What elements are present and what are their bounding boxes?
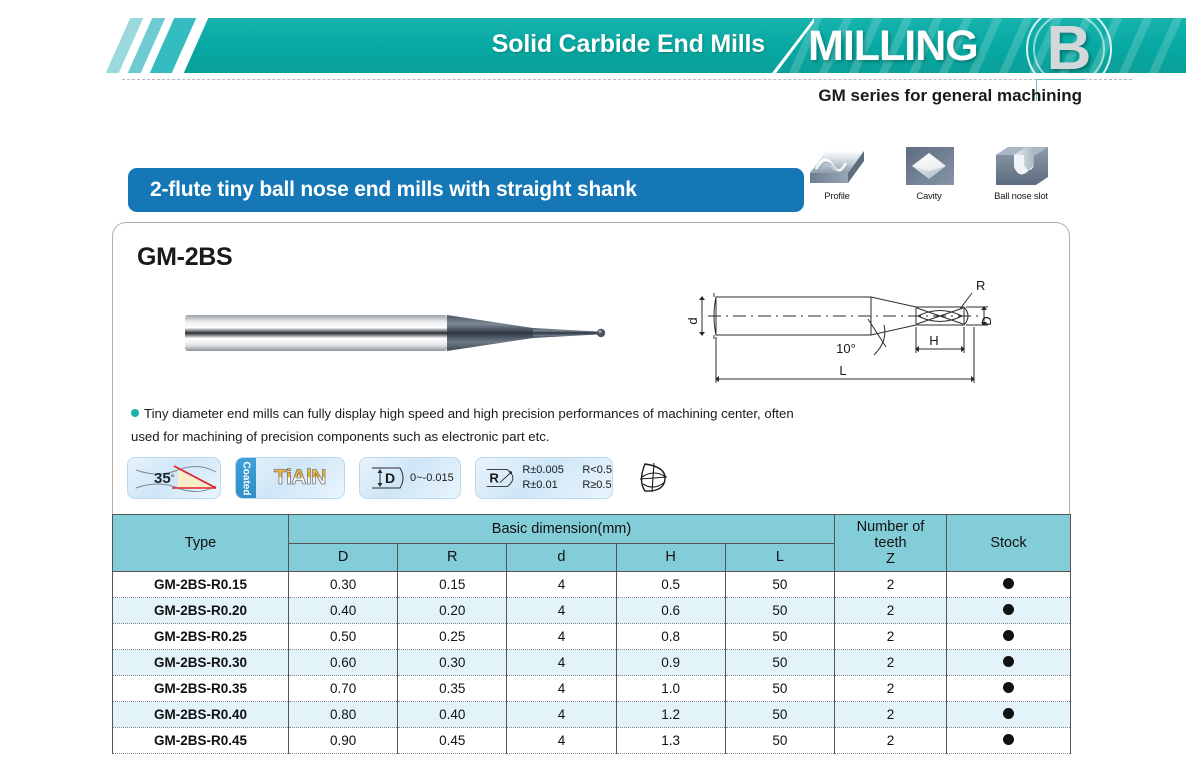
th-teeth-line3: Z [835, 551, 946, 567]
cell-overall-length: 50 [725, 572, 834, 598]
badge-coating: Coated TiAlN [235, 457, 345, 499]
cell-diameter: 0.50 [289, 624, 398, 650]
cell-teeth: 2 [835, 702, 947, 728]
th-type: Type [113, 515, 289, 572]
cell-type: GM-2BS-R0.30 [113, 650, 289, 676]
coating-prefix-strip: Coated [236, 458, 256, 498]
cell-flute-length: 1.3 [616, 728, 725, 754]
badge-d-tolerance: D 0~-0.015 [359, 457, 461, 499]
d-tolerance-label: D [385, 470, 395, 486]
description-text: Tiny diameter end mills can fully displa… [131, 406, 794, 444]
th-number-of-teeth: Number of teeth Z [835, 515, 947, 572]
table-row[interactable]: GM-2BS-R0.400.800.4041.2502 [113, 702, 1071, 728]
cell-diameter: 0.40 [289, 598, 398, 624]
th-stock: Stock [947, 515, 1071, 572]
header-subtitle: GM series for general machining [0, 86, 1082, 106]
application-icons: Profile Cavity [806, 143, 1052, 202]
table-header-row-1: Type Basic dimension(mm) Number of teeth… [113, 515, 1071, 544]
header-title: Solid Carbide End Mills [390, 30, 765, 59]
product-card: GM-2BS [112, 222, 1070, 514]
cell-overall-length: 50 [725, 728, 834, 754]
cell-flute-length: 1.2 [616, 702, 725, 728]
cell-overall-length: 50 [725, 624, 834, 650]
badge-helix-angle: 35 ° [127, 457, 221, 499]
r-tolerance-row: R±0.01 R≥0.5 [522, 478, 612, 493]
cell-shank-diameter: 4 [507, 572, 616, 598]
application-ball-nose-slot: Ball nose slot [990, 143, 1052, 202]
table-row[interactable]: GM-2BS-R0.250.500.2540.8502 [113, 624, 1071, 650]
cell-radius: 0.35 [398, 676, 507, 702]
cell-radius: 0.20 [398, 598, 507, 624]
table-body: GM-2BS-R0.150.300.1540.5502GM-2BS-R0.200… [113, 572, 1071, 754]
cell-flute-length: 0.6 [616, 598, 725, 624]
section-title: 2-flute tiny ball nose end mills with st… [128, 168, 804, 212]
th-dim-R: R [398, 543, 507, 572]
stock-available-dot-icon [1003, 682, 1014, 693]
cell-overall-length: 50 [725, 702, 834, 728]
application-profile: Profile [806, 143, 868, 202]
d-tolerance-value: 0~-0.015 [410, 472, 454, 484]
cell-radius: 0.25 [398, 624, 507, 650]
drawing-label-angle: 10° [836, 341, 856, 356]
series-title: GM-2BS [137, 243, 232, 272]
badge-flute-geometry [627, 457, 681, 499]
cavity-machining-icon [898, 143, 960, 189]
table-row[interactable]: GM-2BS-R0.200.400.2040.6502 [113, 598, 1071, 624]
cell-radius: 0.15 [398, 572, 507, 598]
table-row[interactable]: GM-2BS-R0.350.700.3541.0502 [113, 676, 1071, 702]
coating-prefix: Coated [241, 461, 252, 495]
r-tol-value: R±0.005 [522, 463, 574, 478]
cell-stock [947, 572, 1071, 598]
th-teeth-line2: teeth [835, 535, 946, 551]
technical-drawing: d D R H L 10° [688, 275, 998, 395]
cell-overall-length: 50 [725, 598, 834, 624]
application-label: Profile [806, 191, 868, 202]
bullet-icon [131, 409, 139, 417]
cell-diameter: 0.60 [289, 650, 398, 676]
cell-flute-length: 0.9 [616, 650, 725, 676]
r-tol-condition: R<0.5 [582, 463, 612, 478]
drawing-label-D: D [979, 316, 994, 325]
cell-teeth: 2 [835, 676, 947, 702]
r-tol-value: R±0.01 [522, 478, 574, 493]
cell-radius: 0.30 [398, 650, 507, 676]
header-dotted-rule [122, 79, 1132, 80]
cell-shank-diameter: 4 [507, 702, 616, 728]
badge-r-tolerance: R R±0.005 R<0.5 R±0.01 R≥0.5 [475, 457, 613, 499]
tool-photo [183, 307, 613, 359]
r-tolerance-label: R [489, 471, 499, 486]
drawing-label-d: d [688, 317, 700, 324]
cell-teeth: 2 [835, 650, 947, 676]
cell-shank-diameter: 4 [507, 676, 616, 702]
cell-type: GM-2BS-R0.35 [113, 676, 289, 702]
cell-shank-diameter: 4 [507, 728, 616, 754]
page-header-banner: Solid Carbide End Mills MILLING B GM ser… [0, 0, 1186, 110]
cell-stock [947, 676, 1071, 702]
ball-nose-end-view-icon [632, 457, 676, 499]
cell-radius: 0.45 [398, 728, 507, 754]
cell-type: GM-2BS-R0.15 [113, 572, 289, 598]
th-dim-H: H [616, 543, 725, 572]
r-tolerance-row: R±0.005 R<0.5 [522, 463, 612, 478]
specification-table: Type Basic dimension(mm) Number of teeth… [112, 514, 1071, 754]
cell-stock [947, 702, 1071, 728]
cell-teeth: 2 [835, 598, 947, 624]
cell-flute-length: 1.0 [616, 676, 725, 702]
r-tol-condition: R≥0.5 [582, 478, 611, 493]
th-dim-L: L [725, 543, 834, 572]
stock-available-dot-icon [1003, 630, 1014, 641]
drawing-label-R: R [976, 278, 985, 293]
application-label: Cavity [898, 191, 960, 202]
stock-available-dot-icon [1003, 656, 1014, 667]
application-label: Ball nose slot [990, 191, 1052, 202]
table-row[interactable]: GM-2BS-R0.150.300.1540.5502 [113, 572, 1071, 598]
cell-shank-diameter: 4 [507, 598, 616, 624]
cell-diameter: 0.30 [289, 572, 398, 598]
drawing-label-H: H [929, 333, 938, 348]
coating-name: TiAlN [256, 466, 344, 490]
cell-overall-length: 50 [725, 676, 834, 702]
stock-available-dot-icon [1003, 734, 1014, 745]
cell-teeth: 2 [835, 728, 947, 754]
cell-shank-diameter: 4 [507, 624, 616, 650]
stock-available-dot-icon [1003, 708, 1014, 719]
cell-shank-diameter: 4 [507, 650, 616, 676]
header-category-label: MILLING [808, 22, 978, 71]
helix-angle-value: 35 [154, 470, 171, 487]
cell-stock [947, 728, 1071, 754]
ball-nose-slot-icon [990, 143, 1052, 189]
table-row[interactable]: GM-2BS-R0.300.600.3040.9502 [113, 650, 1071, 676]
cell-diameter: 0.80 [289, 702, 398, 728]
cell-teeth: 2 [835, 624, 947, 650]
cell-type: GM-2BS-R0.40 [113, 702, 289, 728]
product-description: Tiny diameter end mills can fully displa… [131, 403, 811, 448]
cell-radius: 0.40 [398, 702, 507, 728]
helix-angle-unit: ° [171, 473, 175, 483]
cell-type: GM-2BS-R0.25 [113, 624, 289, 650]
th-dim-D: D [289, 543, 398, 572]
drawing-label-L: L [839, 363, 846, 378]
cell-flute-length: 0.8 [616, 624, 725, 650]
profile-machining-icon [806, 143, 868, 189]
table-row[interactable]: GM-2BS-R0.450.900.4541.3502 [113, 728, 1071, 754]
th-dim-d: d [507, 543, 616, 572]
th-teeth-line1: Number of [835, 519, 946, 535]
cell-type: GM-2BS-R0.45 [113, 728, 289, 754]
stock-available-dot-icon [1003, 604, 1014, 615]
th-basic-dimension: Basic dimension(mm) [289, 515, 835, 544]
stock-available-dot-icon [1003, 578, 1014, 589]
table-header: Type Basic dimension(mm) Number of teeth… [113, 515, 1071, 572]
cell-overall-length: 50 [725, 650, 834, 676]
cell-stock [947, 650, 1071, 676]
cell-teeth: 2 [835, 572, 947, 598]
cell-diameter: 0.90 [289, 728, 398, 754]
application-cavity: Cavity [898, 143, 960, 202]
cell-stock [947, 624, 1071, 650]
cell-type: GM-2BS-R0.20 [113, 598, 289, 624]
cell-flute-length: 0.5 [616, 572, 725, 598]
cell-diameter: 0.70 [289, 676, 398, 702]
feature-badges: 35 ° Coated TiAlN D 0~-0.015 [127, 457, 681, 499]
cell-stock [947, 598, 1071, 624]
r-tolerance-values: R±0.005 R<0.5 R±0.01 R≥0.5 [522, 463, 612, 493]
